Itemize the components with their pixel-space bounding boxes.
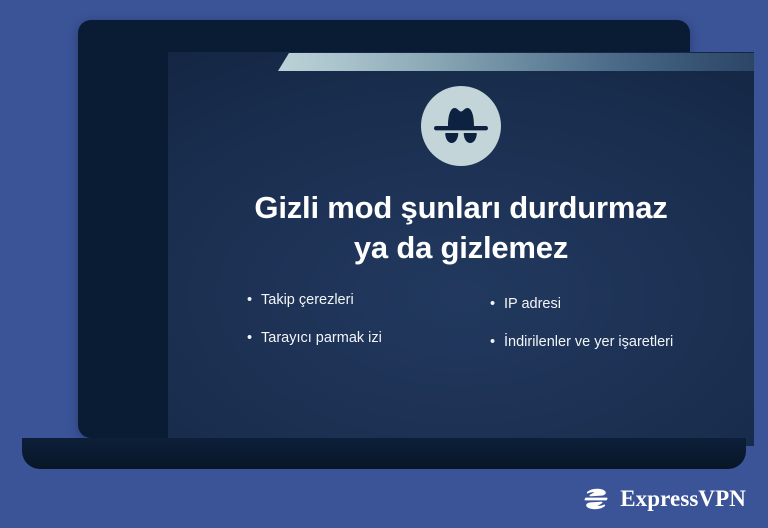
list-item-label: Tarayıcı parmak izi (261, 329, 432, 349)
bullet-column-right: • IP adresi • İndirilenler ve yer işaret… (490, 291, 675, 370)
slide-title-line-2: ya da gizlemez (354, 230, 568, 265)
expressvpn-logo: ExpressVPN (581, 484, 746, 514)
list-item: • Tarayıcı parmak izi (247, 329, 432, 349)
incognito-hat-glasses-icon (421, 86, 501, 166)
slide-canvas: Gizli mod şunları durdurmaz ya da gizlem… (0, 0, 768, 528)
laptop-screen: Gizli mod şunları durdurmaz ya da gizlem… (168, 52, 754, 446)
bullet-marker-icon: • (490, 333, 499, 353)
list-item-label: IP adresi (504, 295, 675, 315)
expressvpn-wordmark: ExpressVPN (620, 486, 746, 512)
bullet-marker-icon: • (247, 291, 256, 311)
list-item: • İndirilenler ve yer işaretleri (490, 333, 675, 353)
bullet-marker-icon: • (490, 295, 499, 315)
list-item: • Takip çerezleri (247, 291, 432, 311)
list-item-label: Takip çerezleri (261, 291, 432, 311)
laptop-base (22, 438, 746, 469)
slide-content: Gizli mod şunları durdurmaz ya da gizlem… (168, 52, 754, 446)
slide-title: Gizli mod şunları durdurmaz ya da gizlem… (191, 188, 731, 267)
bullet-column-left: • Takip çerezleri • Tarayıcı parmak izi (247, 291, 432, 370)
expressvpn-logo-mark (581, 484, 611, 514)
bullet-list: • Takip çerezleri • Tarayıcı parmak izi … (211, 291, 711, 370)
laptop-lid: Gizli mod şunları durdurmaz ya da gizlem… (78, 20, 690, 438)
bullet-marker-icon: • (247, 329, 256, 349)
list-item-label: İndirilenler ve yer işaretleri (504, 333, 675, 353)
slide-title-line-1: Gizli mod şunları durdurmaz (254, 190, 667, 225)
list-item: • IP adresi (490, 295, 675, 315)
